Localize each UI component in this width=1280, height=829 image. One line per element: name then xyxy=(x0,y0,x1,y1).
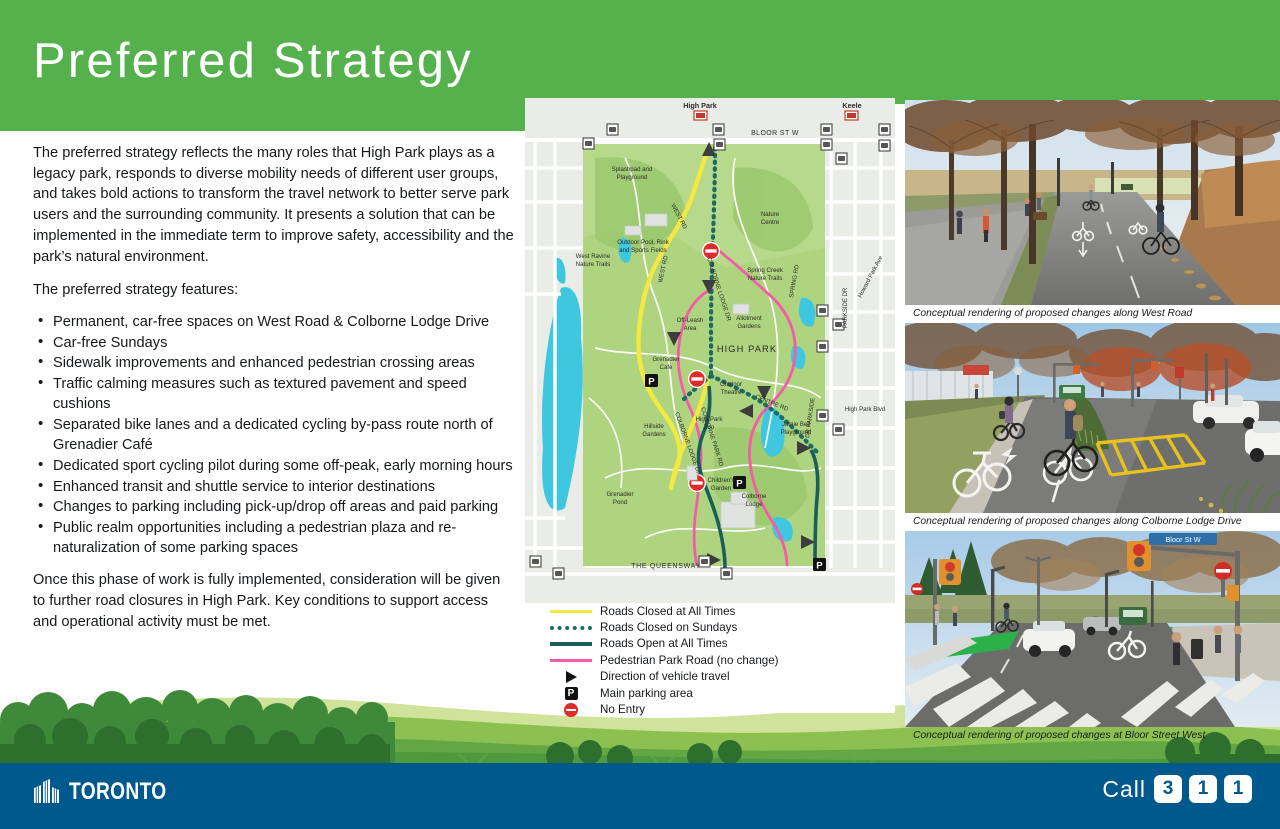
svg-text:Playground: Playground xyxy=(617,174,648,181)
svg-text:Area: Area xyxy=(684,325,697,332)
legend-label: Roads Open at All Times xyxy=(600,637,728,650)
legend-row-pedestrian-park-road: Pedestrian Park Road (no change) xyxy=(542,652,895,668)
svg-text:Theatre: Theatre xyxy=(720,389,742,396)
svg-text:BLOOR ST W: BLOOR ST W xyxy=(751,130,799,137)
svg-text:Grenadier: Grenadier xyxy=(606,491,633,498)
digit-separator-dot xyxy=(1219,787,1223,791)
list-item: Separated bike lanes and a dedicated cyc… xyxy=(33,415,516,455)
svg-text:Outdoor Pool, Rink: Outdoor Pool, Rink xyxy=(617,239,669,246)
legend-key-line-dotted-teal xyxy=(542,626,600,630)
svg-text:Allotment: Allotment xyxy=(736,315,762,322)
features-list: Permanent, car-free spaces on West Road … xyxy=(33,312,516,558)
parking-icon: P xyxy=(542,687,600,700)
intro-paragraph: The preferred strategy reflects the many… xyxy=(33,143,516,267)
page-footer xyxy=(0,763,1280,829)
svg-text:Hillside: Hillside xyxy=(644,423,664,430)
list-item: Changes to parking including pick-up/dro… xyxy=(33,497,516,517)
toronto-logo: TORONTO xyxy=(33,778,191,804)
page-title: Preferred Strategy xyxy=(33,33,473,89)
svg-text:High Park: High Park xyxy=(683,101,717,110)
legend-label: Main parking area xyxy=(600,687,693,700)
legend-label: Roads Closed at All Times xyxy=(600,605,735,618)
legend-label: Pedestrian Park Road (no change) xyxy=(600,654,779,667)
call-digit: 3 xyxy=(1154,775,1182,803)
legend-row-direction-of-travel: Direction of vehicle travel xyxy=(542,669,895,685)
call-label: Call xyxy=(1102,776,1146,803)
svg-text:Nature Trails: Nature Trails xyxy=(576,261,611,268)
map-panel: P P P xyxy=(525,98,895,713)
svg-text:PARKSIDE DR: PARKSIDE DR xyxy=(843,287,849,328)
svg-text:Off-Leash: Off-Leash xyxy=(677,317,704,324)
svg-text:Nature: Nature xyxy=(761,211,780,218)
legend-key-line-yellow xyxy=(542,610,600,613)
legend-row-no-entry: No Entry xyxy=(542,701,895,717)
list-item: Public realm opportunities including a p… xyxy=(33,518,516,558)
svg-text:P: P xyxy=(736,479,743,490)
legend-label: No Entry xyxy=(600,703,645,716)
list-item: Dedicated sport cycling pilot during som… xyxy=(33,456,516,476)
svg-text:Pond: Pond xyxy=(613,499,627,506)
svg-text:P: P xyxy=(816,561,823,572)
toronto-buildings-icon xyxy=(33,778,62,804)
svg-text:P: P xyxy=(648,377,655,388)
page-header-right-band xyxy=(893,0,1280,104)
svg-text:Cafe: Cafe xyxy=(660,364,673,371)
list-item: Sidewalk improvements and enhanced pedes… xyxy=(33,353,516,373)
list-item: Car-free Sundays xyxy=(33,333,516,353)
svg-text:Bloor St W: Bloor St W xyxy=(1165,535,1200,544)
svg-text:and Sports Fields: and Sports Fields xyxy=(619,247,666,254)
legend-key-line-teal xyxy=(542,642,600,646)
svg-text:HIGH PARK: HIGH PARK xyxy=(717,344,777,354)
svg-text:Gardens: Gardens xyxy=(642,431,665,438)
rendering-caption: Conceptual rendering of proposed changes… xyxy=(905,305,1280,323)
legend-label: Direction of vehicle travel xyxy=(600,670,730,683)
svg-text:THE QUEENSWAY: THE QUEENSWAY xyxy=(631,563,701,570)
svg-text:Colborne: Colborne xyxy=(742,493,767,500)
legend-row-roads-closed-sundays: Roads Closed on Sundays xyxy=(542,619,895,635)
call-311: Call 3 1 1 xyxy=(1102,775,1252,803)
high-park-map: P P P xyxy=(525,98,895,603)
svg-text:West Ravine: West Ravine xyxy=(576,253,611,260)
svg-text:Keele: Keele xyxy=(842,101,861,110)
svg-text:Nature Trails: Nature Trails xyxy=(748,275,783,282)
rendering-bloor-street-west: Bloor St W xyxy=(905,531,1280,727)
no-entry-icon xyxy=(542,703,600,717)
call-digit: 1 xyxy=(1224,775,1252,803)
svg-text:Lodge: Lodge xyxy=(746,501,764,508)
list-item: Traffic calming measures such as texture… xyxy=(33,374,516,414)
content-column: The preferred strategy reflects the many… xyxy=(33,143,516,632)
legend-label: Roads Closed on Sundays xyxy=(600,621,737,634)
svg-text:Spring Creek: Spring Creek xyxy=(747,267,784,274)
toronto-wordmark: TORONTO xyxy=(69,780,167,804)
svg-text:Garden: Garden xyxy=(711,485,731,492)
rendering-colborne-lodge-drive xyxy=(905,323,1280,513)
closing-paragraph: Once this phase of work is fully impleme… xyxy=(33,570,516,632)
svg-text:Splashpad and: Splashpad and xyxy=(612,166,653,173)
digit-separator-dot xyxy=(1184,787,1188,791)
svg-text:Grenadier: Grenadier xyxy=(652,356,679,363)
rendering-caption: Conceptual rendering of proposed changes… xyxy=(905,727,1280,745)
list-item: Enhanced transit and shuttle service to … xyxy=(33,477,516,497)
call-digit: 1 xyxy=(1189,775,1217,803)
rendering-caption: Conceptual rendering of proposed changes… xyxy=(905,513,1280,531)
legend-key-line-pink xyxy=(542,659,600,662)
triangle-icon xyxy=(542,671,600,683)
legend-row-roads-open-all-times: Roads Open at All Times xyxy=(542,636,895,652)
legend-row-roads-closed-all-times: Roads Closed at All Times xyxy=(542,603,895,619)
svg-text:High Park Blvd: High Park Blvd xyxy=(845,406,885,413)
rendering-west-road xyxy=(905,100,1280,305)
svg-text:Centre: Centre xyxy=(761,219,780,226)
list-item: Permanent, car-free spaces on West Road … xyxy=(33,312,516,332)
legend-row-main-parking-area: P Main parking area xyxy=(542,685,895,701)
map-legend: Roads Closed at All Times Roads Closed o… xyxy=(542,603,895,718)
svg-text:Children's: Children's xyxy=(708,477,735,484)
svg-text:Gardens: Gardens xyxy=(737,323,760,330)
call-311-digits: 3 1 1 xyxy=(1154,775,1252,803)
renderings-column: Conceptual rendering of proposed changes… xyxy=(905,100,1280,745)
features-lead: The preferred strategy features: xyxy=(33,280,516,301)
svg-text:Outdoor: Outdoor xyxy=(720,381,742,388)
